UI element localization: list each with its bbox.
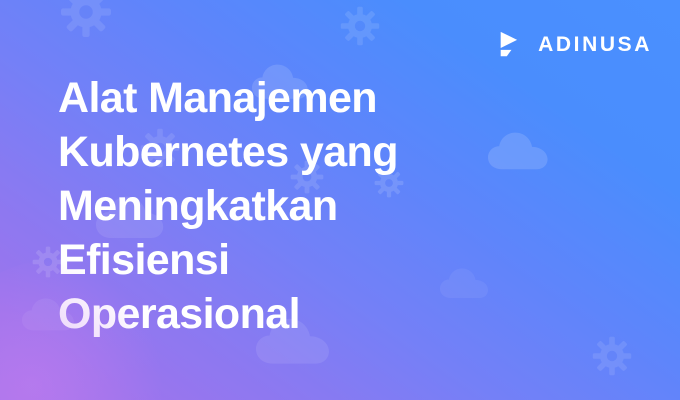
gear-icon bbox=[60, 0, 112, 38]
double-chevron-arrow-icon bbox=[496, 29, 526, 59]
brand-logo-lockup: ADINUSA bbox=[496, 29, 652, 59]
gear-icon bbox=[592, 336, 632, 376]
promo-banner: ADINUSA Alat Manajemen Kubernetes yang M… bbox=[0, 0, 680, 400]
brand-name: ADINUSA bbox=[538, 34, 652, 55]
page-title: Alat Manajemen Kubernetes yang Meningkat… bbox=[58, 72, 528, 342]
gear-icon bbox=[340, 6, 380, 46]
